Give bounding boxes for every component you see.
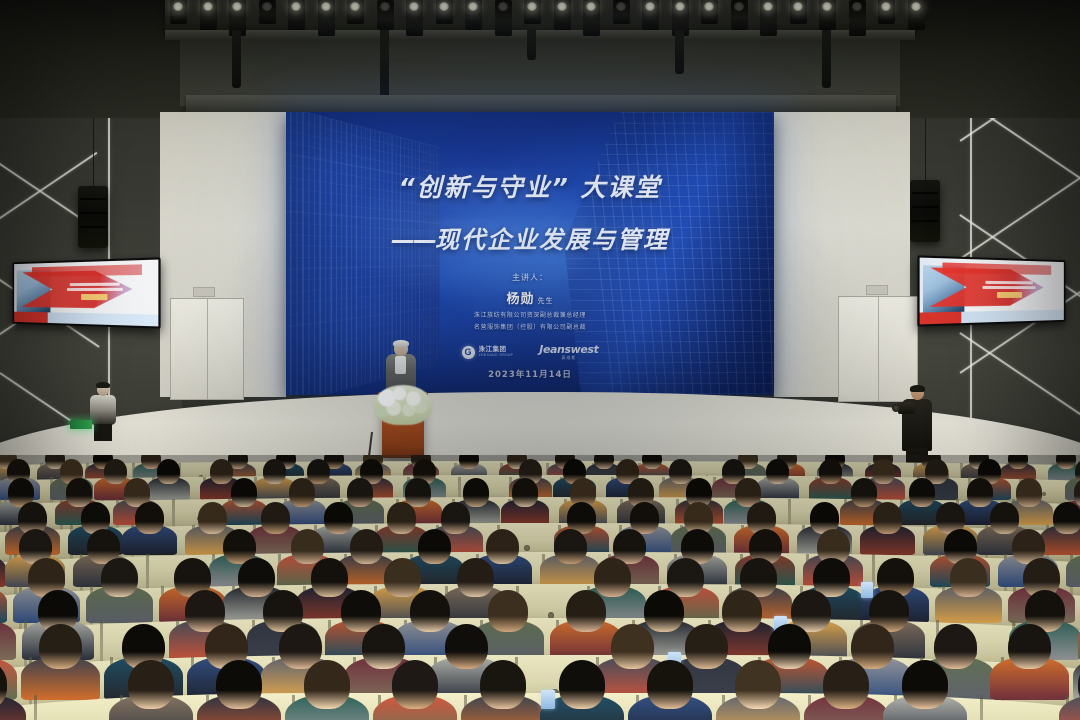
hanging-light-fixture bbox=[527, 30, 536, 60]
audience-member-head bbox=[289, 478, 316, 506]
audience-member-head bbox=[307, 459, 330, 484]
audience-member-head bbox=[263, 459, 286, 484]
audience-member-head bbox=[261, 502, 291, 534]
audience-member-head bbox=[1056, 455, 1076, 469]
seat-armrest-stud bbox=[524, 545, 530, 551]
audience-member-head bbox=[768, 624, 811, 669]
audience-member-head bbox=[104, 459, 127, 484]
lcd-footer-bar bbox=[14, 311, 158, 326]
audience-member-head bbox=[39, 624, 82, 669]
led-vignette bbox=[286, 112, 774, 395]
door-seam bbox=[207, 299, 208, 399]
stage-spotlight bbox=[495, 0, 512, 36]
right-side-lcd bbox=[917, 255, 1065, 326]
audience-member-head bbox=[647, 660, 693, 709]
proscenium-beam bbox=[186, 95, 896, 113]
audience-member-head bbox=[669, 459, 692, 484]
audience-member-head bbox=[554, 529, 587, 564]
audience-member-head bbox=[445, 624, 488, 669]
audience-member-head bbox=[851, 478, 878, 506]
videographer-hair bbox=[910, 385, 925, 392]
audience-member-head bbox=[128, 660, 174, 709]
stage-spotlight bbox=[318, 0, 335, 36]
audience-member-head bbox=[722, 590, 762, 632]
audience-member-head bbox=[766, 459, 789, 484]
audience-member-head bbox=[486, 529, 519, 564]
camera-lens-icon bbox=[892, 404, 900, 412]
audience-member-head bbox=[387, 502, 417, 534]
audience-member-head bbox=[559, 660, 605, 709]
wall-line-diagonal bbox=[960, 164, 1080, 259]
audience-member-head bbox=[238, 558, 274, 596]
door-vent-right bbox=[866, 285, 888, 295]
audience-member-head bbox=[967, 478, 994, 506]
wall-line-diagonal bbox=[960, 332, 1080, 427]
audience-member-head bbox=[644, 590, 684, 632]
audience-member-head bbox=[594, 455, 614, 469]
stage-spotlight bbox=[908, 0, 925, 30]
lcd-text-line bbox=[985, 281, 1033, 284]
audience-member-head bbox=[667, 558, 703, 596]
audience-member-head bbox=[990, 502, 1020, 534]
aisle-attendee bbox=[88, 383, 118, 441]
audience-member-head bbox=[642, 455, 662, 469]
stage-spotlight bbox=[642, 0, 659, 30]
presenter-shirt bbox=[395, 356, 406, 374]
audience-member-head bbox=[347, 478, 374, 506]
auditorium-photo: “创新与守业” 大课堂 ——现代企业发展与管理 主讲人： 杨勋先生 洙江族纺有限… bbox=[0, 0, 1080, 720]
aisle-attendee-hair bbox=[96, 382, 110, 388]
lcd-title-bar bbox=[942, 262, 1051, 274]
line-array-speaker bbox=[910, 180, 940, 242]
lighting-truss-shelf bbox=[165, 30, 915, 40]
stage-spotlight bbox=[524, 0, 541, 24]
stage-spotlight bbox=[288, 0, 305, 30]
lcd-text-line bbox=[67, 288, 123, 291]
stage-spotlight bbox=[465, 0, 482, 30]
audience-member-head bbox=[611, 624, 654, 669]
flower-arrangement bbox=[374, 385, 432, 425]
lcd-text-line bbox=[982, 286, 1035, 289]
video-camera-icon bbox=[898, 402, 915, 414]
lcd-text-line bbox=[70, 283, 120, 286]
audience-member-head bbox=[324, 502, 354, 534]
audience-member-head bbox=[463, 478, 490, 506]
left-side-lcd bbox=[13, 257, 161, 328]
audience-member-head bbox=[135, 502, 165, 534]
stage-spotlight bbox=[849, 0, 866, 36]
attendee-phone-screen bbox=[861, 582, 872, 598]
main-led-screen: “创新与守业” 大课堂 ——现代企业发展与管理 主讲人： 杨勋先生 洙江族纺有限… bbox=[286, 112, 774, 395]
stage-spotlight bbox=[259, 0, 276, 24]
lcd-name-text bbox=[997, 292, 1022, 298]
stage-spotlight bbox=[613, 0, 630, 24]
lcd-footer-bar bbox=[920, 309, 1064, 324]
audience-member-head bbox=[362, 624, 405, 669]
audience-member-head bbox=[410, 590, 450, 632]
stage-spotlight bbox=[731, 0, 748, 30]
lcd-title-bar bbox=[32, 264, 142, 276]
audience-member-head bbox=[304, 660, 350, 709]
audience-member-head bbox=[392, 660, 438, 709]
hanging-light-fixture bbox=[380, 30, 389, 102]
hanging-light-fixture bbox=[822, 30, 831, 88]
stage-spotlight bbox=[406, 0, 423, 36]
audience-member-head bbox=[210, 459, 233, 484]
audience-member-head bbox=[735, 660, 781, 709]
audience-member-head bbox=[950, 558, 986, 596]
audience-member-head bbox=[198, 502, 228, 534]
stage-spotlight bbox=[760, 0, 777, 36]
audience-member-head bbox=[934, 624, 977, 669]
audience-member-head bbox=[566, 590, 606, 632]
audience-member-head bbox=[1053, 502, 1080, 534]
lcd-screen-content bbox=[920, 258, 1064, 325]
audience-member-head bbox=[311, 558, 347, 596]
audience-member-head bbox=[1008, 624, 1051, 669]
audience-member-head bbox=[418, 529, 451, 564]
audience-member-head bbox=[1008, 455, 1028, 469]
stage-spotlight bbox=[554, 0, 571, 30]
audience-member-head bbox=[291, 529, 324, 564]
audience-member-head bbox=[441, 502, 471, 534]
stage-spotlight bbox=[200, 0, 217, 30]
exit-sign bbox=[70, 420, 92, 429]
aisle-attendee-legs bbox=[94, 424, 112, 441]
audience-member-head bbox=[405, 478, 432, 506]
aisle-attendee-torso bbox=[90, 395, 116, 425]
stage-spotlight bbox=[347, 0, 364, 24]
audience-member-head bbox=[512, 478, 539, 506]
audience-member-head bbox=[488, 590, 528, 632]
lcd-screen-content bbox=[14, 260, 158, 327]
stage-spotlight bbox=[819, 0, 836, 30]
hanging-light-fixture bbox=[675, 30, 684, 74]
stage-spotlight bbox=[790, 0, 807, 24]
hanging-light-fixture bbox=[232, 30, 241, 88]
stage-spotlight bbox=[377, 0, 394, 30]
attendee-phone-screen bbox=[541, 690, 555, 709]
audience-member-head bbox=[459, 455, 479, 469]
audience-member-head bbox=[909, 478, 936, 506]
door-vent-left bbox=[193, 287, 215, 297]
audience-member-head bbox=[216, 660, 262, 709]
stage-spotlight bbox=[878, 0, 895, 24]
audience-seating bbox=[0, 455, 1080, 720]
audience-member-head bbox=[101, 558, 137, 596]
door-seam bbox=[878, 297, 879, 401]
audience-member-head bbox=[872, 459, 895, 484]
lcd-name-text bbox=[81, 294, 108, 300]
seat-divider bbox=[980, 695, 983, 720]
presenter-hair bbox=[393, 340, 409, 347]
stage-spotlight bbox=[170, 0, 187, 24]
stage-door-left[interactable] bbox=[170, 298, 244, 400]
audience-member-head bbox=[384, 558, 420, 596]
stage-spotlight bbox=[583, 0, 600, 36]
audience-member-head bbox=[157, 459, 180, 484]
audience-member-head bbox=[231, 478, 258, 506]
stage-spotlight bbox=[436, 0, 453, 24]
audience-member-head bbox=[873, 502, 903, 534]
audience-member-head bbox=[823, 660, 869, 709]
audience-member-head bbox=[457, 558, 493, 596]
audience-member-head bbox=[350, 529, 383, 564]
line-array-speaker bbox=[78, 186, 108, 248]
audience-member-head bbox=[819, 459, 842, 484]
audience-member-head bbox=[902, 660, 948, 709]
seat-divider bbox=[34, 695, 37, 720]
audience-member-head bbox=[480, 660, 526, 709]
audience-member-head bbox=[66, 478, 93, 506]
audience-member-head bbox=[1016, 478, 1043, 506]
audience-member-head bbox=[685, 624, 728, 669]
audience-member-head bbox=[594, 558, 630, 596]
stage-spotlight bbox=[701, 0, 718, 24]
